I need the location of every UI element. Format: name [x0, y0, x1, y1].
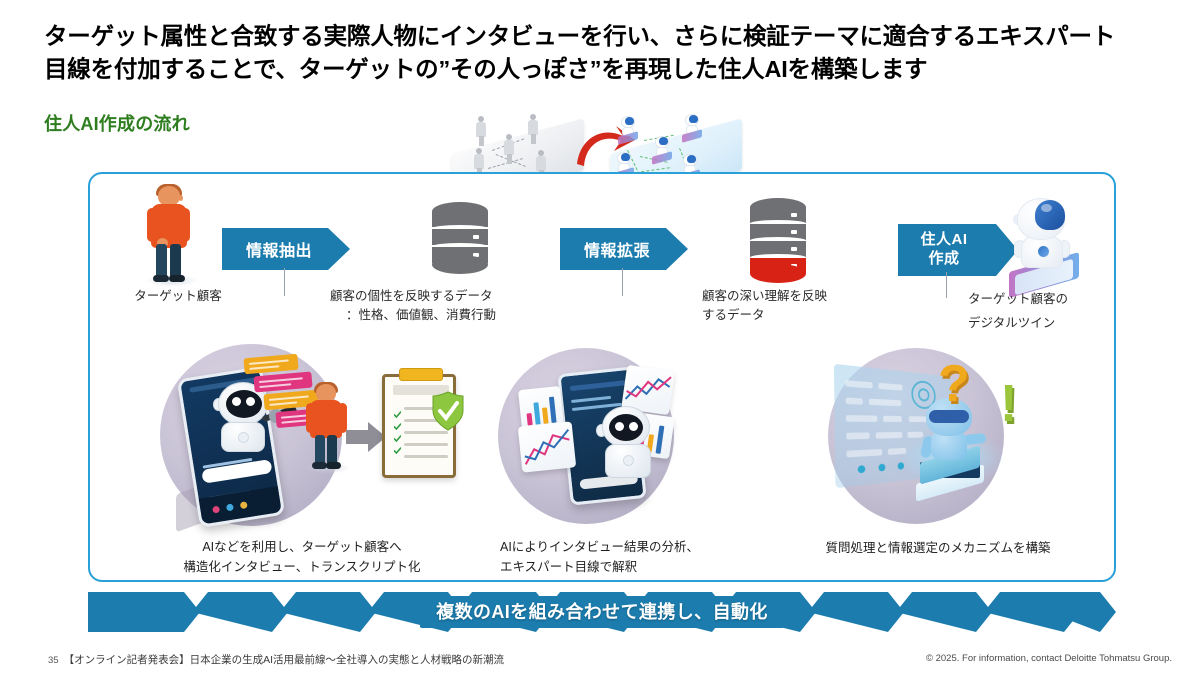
- question-mark-icon: ?: [938, 358, 970, 410]
- step-arrow-create-line2: 作成: [920, 250, 981, 269]
- node-caption-data-2-line1: 顧客の深い理解を反映: [702, 287, 902, 306]
- person-icon: [140, 186, 202, 282]
- panel-caption-interview-line2: 構造化インタビュー、トランスクリプト化: [132, 557, 472, 577]
- automation-banner: 複数のAIを組み合わせて連携し、自動化: [88, 592, 1116, 632]
- node-caption-data-2: 顧客の深い理解を反映 するデータ: [702, 287, 902, 326]
- person-icon: [476, 116, 486, 146]
- robot-icon: [682, 114, 702, 138]
- panel-caption-interview-line1: AIなどを利用し、ターゲット顧客へ: [132, 537, 472, 557]
- page-number: 35: [48, 655, 59, 666]
- panel-caption-analysis-line1: AIによりインタビュー結果の分析、: [500, 537, 800, 557]
- node-caption-digital-twin: ターゲット顧客の デジタルツイン: [968, 288, 1108, 336]
- step-arrow-expand[interactable]: 情報拡張: [560, 228, 688, 270]
- clipboard-checklist-icon: [382, 374, 456, 478]
- node-caption-data-2-line2: するデータ: [702, 306, 902, 325]
- connector-line: [946, 272, 947, 298]
- panel-caption-analysis-line2: エキスパート目線で解釈: [500, 557, 800, 577]
- banner-label: 複数のAIを組み合わせて連携し、自動化: [420, 596, 784, 628]
- arrow-right-icon: [346, 420, 386, 454]
- database-icon: [432, 202, 488, 276]
- footer-left: 35【オンライン記者発表会】日本企業の生成AI活用最前線～全社導入の実態と人材戦…: [48, 652, 504, 667]
- page-title-line2: 目線を付加することで、ターゲットの”その人っぽさ”を再現した住人AIを構築します: [44, 53, 1174, 86]
- exclamation-mark-icon: !: [1000, 378, 1017, 430]
- page-title: ターゲット属性と合致する実際人物にインタビューを行い、さらに検証テーマに適合する…: [44, 20, 1174, 87]
- step-arrow-extract[interactable]: 情報抽出: [222, 228, 350, 270]
- page-title-line1: ターゲット属性と合致する実際人物にインタビューを行い、さらに検証テーマに適合する…: [44, 23, 1115, 49]
- banner-text-wrap: 複数のAIを組み合わせて連携し、自動化: [88, 592, 1116, 632]
- robot-icon: [652, 136, 672, 160]
- section-subtitle: 住人AI作成の流れ: [44, 110, 190, 136]
- check-icon: [394, 429, 401, 436]
- step-arrow-extract-label: 情報抽出: [246, 237, 326, 261]
- person-icon: [302, 384, 352, 470]
- connector-line: [622, 268, 623, 296]
- slide-root: ターゲット属性と合致する実際人物にインタビューを行い、さらに検証テーマに適合する…: [0, 0, 1200, 675]
- node-caption-digital-twin-line2: デジタルツイン: [968, 312, 1108, 336]
- node-caption-data-1: 顧客の個性を反映するデータ ：性格、価値観、消費行動: [330, 287, 570, 326]
- person-icon: [504, 134, 514, 164]
- robot-icon: [618, 116, 638, 140]
- check-icon: [394, 405, 401, 412]
- check-icon: [394, 417, 401, 424]
- step-arrow-expand-label: 情報拡張: [584, 237, 664, 261]
- database-icon: [750, 198, 806, 280]
- node-caption-data-1-line1: 顧客の個性を反映するデータ: [330, 287, 570, 306]
- node-caption-data-1-line2: ：性格、価値観、消費行動: [330, 306, 570, 325]
- node-caption-target-customer: ターゲット顧客: [118, 287, 238, 306]
- node-caption-digital-twin-line1: ターゲット顧客の: [968, 288, 1108, 312]
- step-arrow-create-line1: 住人AI: [920, 231, 981, 250]
- connector-line: [284, 268, 285, 296]
- panel-caption-interview: AIなどを利用し、ターゲット顧客へ 構造化インタビュー、トランスクリプト化: [132, 537, 472, 577]
- person-icon: [528, 114, 538, 144]
- clipboard-clip-icon: [399, 368, 443, 381]
- robot-icon: [596, 406, 664, 482]
- step-arrow-create-label: 住人AI 作成: [920, 231, 995, 269]
- robot-icon: [995, 196, 1091, 286]
- deck-title: 【オンライン記者発表会】日本企業の生成AI活用最前線～全社導入の実態と人材戦略の…: [64, 654, 504, 666]
- copyright-notice: © 2025. For information, contact Deloitt…: [926, 653, 1172, 664]
- shield-check-icon: [431, 391, 465, 431]
- line-chart-icon: [518, 421, 577, 472]
- panel-caption-mechanism: 質問処理と情報選定のメカニズムを構築: [788, 538, 1088, 558]
- check-icon: [394, 441, 401, 448]
- panel-caption-analysis: AIによりインタビュー結果の分析、 エキスパート目線で解釈: [500, 537, 800, 577]
